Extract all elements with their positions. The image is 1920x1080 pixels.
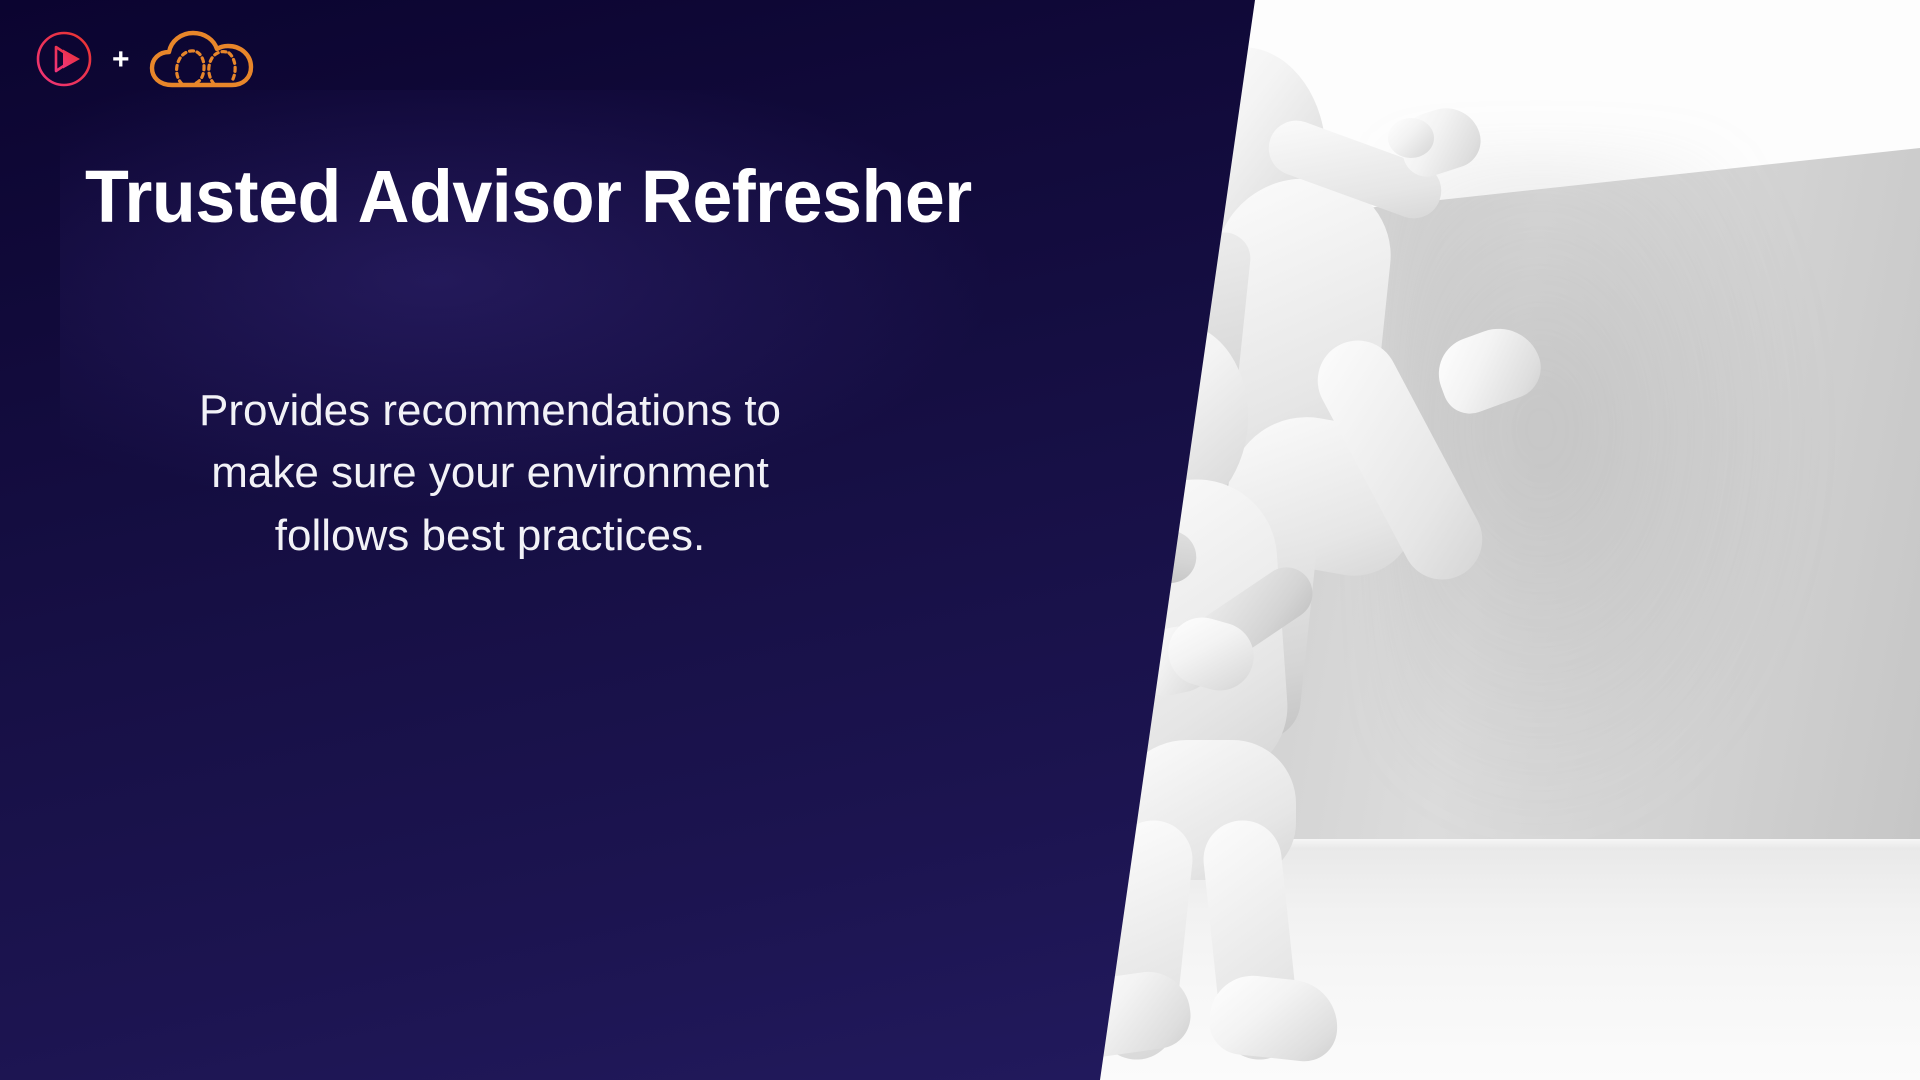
- subtitle-text: Provides recommendations to make sure yo…: [85, 380, 895, 567]
- base-right-foot: [1206, 972, 1342, 1065]
- subtitle-line-2: make sure your environment: [85, 442, 895, 504]
- play-circle-icon: [34, 29, 94, 89]
- brand-logo-row: +: [34, 28, 256, 90]
- page-title: Trusted Advisor Refresher: [85, 158, 958, 236]
- cloud-icon: [148, 28, 256, 90]
- plus-icon: +: [112, 45, 130, 75]
- subtitle-line-3: follows best practices.: [85, 505, 895, 567]
- subtitle-line-1: Provides recommendations to: [85, 380, 895, 442]
- slide-canvas: + Trusted Advisor Refresher Provides rec…: [0, 0, 1920, 1080]
